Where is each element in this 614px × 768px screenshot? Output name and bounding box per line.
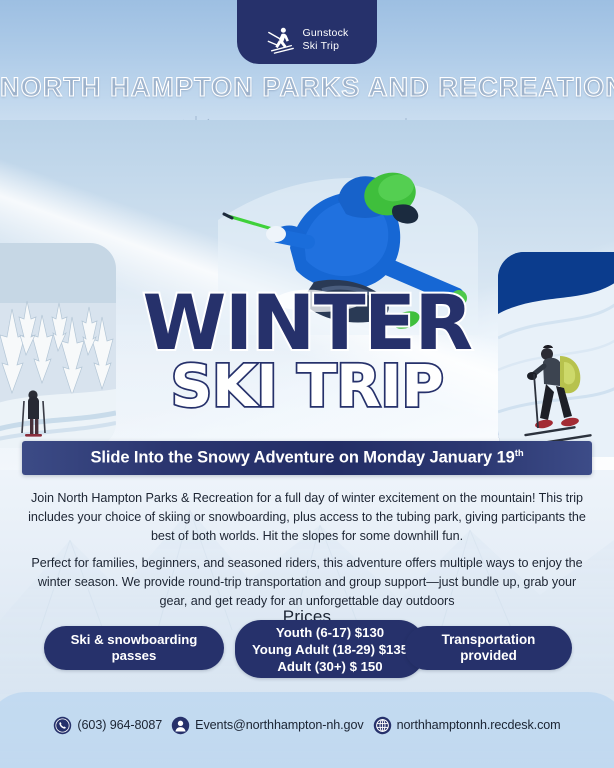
contact-email[interactable]: Events@northhampton-nh.gov — [171, 716, 363, 735]
logo-line-2: Ski Trip — [303, 40, 349, 53]
description-paragraph-2-container: Perfect for families, beginners, and sea… — [26, 554, 588, 611]
title-line-winter: WINTER — [0, 286, 614, 360]
subtitle-banner: Slide Into the Snowy Adventure on Monday… — [22, 441, 592, 475]
subtitle-text-wrapper: Slide Into the Snowy Adventure on Monday… — [90, 448, 523, 468]
phone-number: (603) 964-8087 — [77, 718, 162, 732]
pill-left-line-2: passes — [71, 648, 198, 664]
pill-ski-snowboard-passes: Ski & snowboarding passes — [44, 626, 224, 670]
title-line-ski-trip: SKI TRIP — [0, 356, 614, 416]
subtitle-text: Slide Into the Snowy Adventure on Monday… — [90, 449, 514, 467]
pill-right-line-1: Transportation — [442, 632, 536, 648]
pill-right-line-2: provided — [442, 648, 536, 664]
globe-icon — [373, 716, 392, 735]
logo-label: Gunstock Ski Trip — [303, 27, 349, 53]
subtitle-ordinal: th — [515, 448, 524, 459]
email-address: Events@northhampton-nh.gov — [195, 718, 363, 732]
pill-left-line-1: Ski & snowboarding — [71, 632, 198, 648]
phone-icon — [53, 716, 72, 735]
website-url: northhamptonnh.recdesk.com — [397, 718, 561, 732]
pill-prices-list: Youth (6-17) $130 Young Adult (18-29) $1… — [235, 620, 425, 678]
person-icon — [171, 716, 190, 735]
skier-icon — [266, 25, 296, 55]
pill-transportation-provided: Transportation provided — [405, 626, 572, 670]
flyer-title: WINTER SKI TRIP — [0, 286, 614, 416]
organization-header: NORTH HAMPTON PARKS AND RECREATION — [0, 72, 614, 103]
footer-contact-row: (603) 964-8087 Events@northhampton-nh.go… — [0, 710, 614, 740]
description-paragraph-2: Perfect for families, beginners, and sea… — [26, 554, 588, 611]
contact-website[interactable]: northhamptonnh.recdesk.com — [373, 716, 561, 735]
description-paragraph-1-container: Join North Hampton Parks & Recreation fo… — [26, 489, 588, 546]
gunstock-logo-badge: Gunstock Ski Trip — [237, 0, 377, 64]
contact-phone[interactable]: (603) 964-8087 — [53, 716, 162, 735]
price-youth: Youth (6-17) $130 — [252, 624, 408, 641]
ski-trip-flyer: Gunstock Ski Trip NORTH HAMPTON PARKS AN… — [0, 0, 614, 768]
price-adult: Adult (30+) $ 150 — [252, 658, 408, 675]
description-paragraph-1: Join North Hampton Parks & Recreation fo… — [26, 489, 588, 546]
logo-line-1: Gunstock — [303, 27, 349, 40]
price-young-adult: Young Adult (18-29) $135 — [252, 641, 408, 658]
